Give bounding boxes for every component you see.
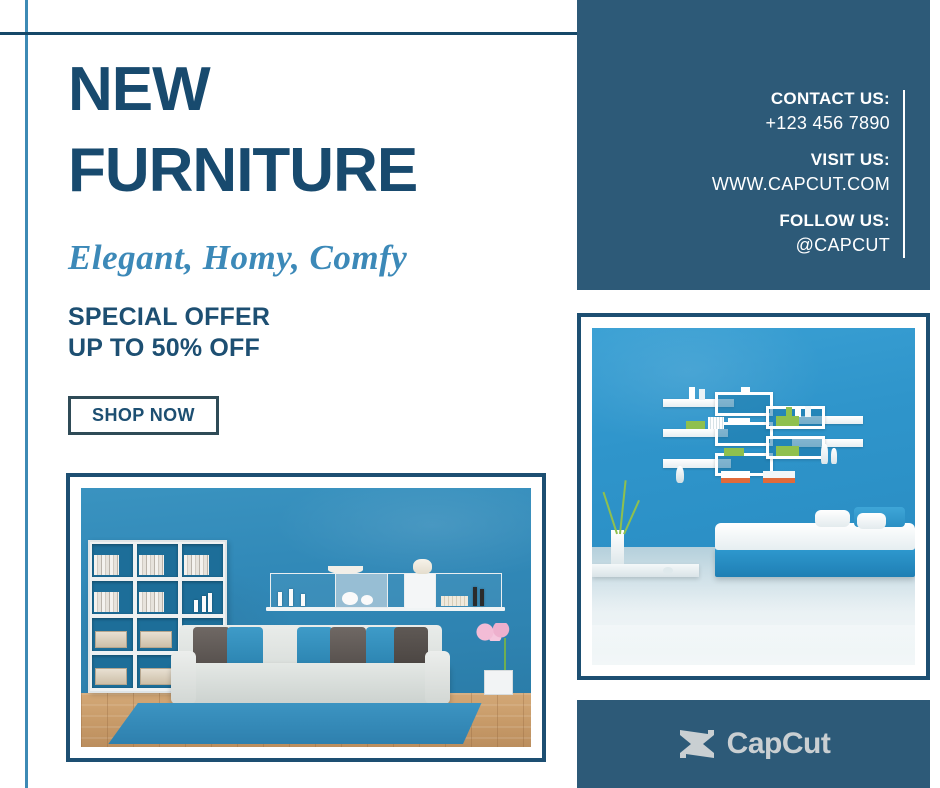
contact-group-phone: CONTACT US: +123 456 7890 <box>712 88 890 135</box>
bookshelf-cell <box>137 544 178 577</box>
contact-value-website[interactable]: WWW.CAPCUT.COM <box>712 172 890 196</box>
area-rug <box>108 703 482 744</box>
shelf-book-green-3 <box>776 416 799 426</box>
cushion-grey-1 <box>193 627 229 668</box>
bookshelf-books <box>94 592 119 612</box>
bookshelf-candle <box>202 596 206 612</box>
bookshelf-cell <box>92 618 133 651</box>
bed-base <box>715 547 915 577</box>
shelf-book-green-4 <box>724 448 743 456</box>
cushion-grey-3 <box>394 627 427 668</box>
bookshelf-cell <box>92 581 133 614</box>
cushion-blue-1 <box>227 627 263 668</box>
headline-line-two: FURNITURE <box>68 141 538 202</box>
headline-line-one: NEW <box>68 60 538 121</box>
sofa-arm-left <box>171 651 196 704</box>
candle-stick-e <box>301 594 305 606</box>
cushion-blue-2 <box>297 627 333 668</box>
contact-value-phone[interactable]: +123 456 7890 <box>712 111 890 135</box>
shelf-vase-2 <box>699 389 705 401</box>
special-offer-block: SPECIAL OFFER UP TO 50% OFF <box>68 302 270 364</box>
bed-pillow-white-2 <box>857 513 886 528</box>
shelf-books-white-2 <box>721 471 750 478</box>
bookshelf-basket <box>140 631 172 649</box>
vertical-accent-rule <box>25 0 28 788</box>
shelf-vase-1 <box>689 387 695 400</box>
bookshelf-candle <box>194 600 198 613</box>
shelf-books <box>441 596 469 606</box>
decor-white-box <box>404 574 436 608</box>
plant-pot <box>484 670 513 695</box>
shelf-vase-4 <box>805 406 811 418</box>
wall-shelf <box>270 573 502 609</box>
low-bench <box>592 564 699 577</box>
shelf-bowl-2 <box>728 418 751 425</box>
bedroom-photo-frame <box>577 313 930 680</box>
bed-mattress <box>715 523 915 550</box>
shop-now-button[interactable]: SHOP NOW <box>68 396 219 435</box>
bed-pillow-white <box>815 510 851 527</box>
bookshelf-books <box>184 555 209 575</box>
shelf-book-orange-2 <box>763 478 795 483</box>
candle-stick-a <box>473 587 477 607</box>
contact-value-social[interactable]: @CAPCUT <box>712 233 890 257</box>
bookshelf-cell <box>182 544 223 577</box>
contact-group-website: VISIT US: WWW.CAPCUT.COM <box>712 149 890 196</box>
poster-canvas: CONTACT US: +123 456 7890 VISIT US: WWW.… <box>0 0 940 788</box>
contact-label-phone: CONTACT US: <box>712 88 890 111</box>
floor-vase <box>611 530 624 564</box>
capcut-hourglass-icon <box>677 727 717 761</box>
floor-reflection <box>592 625 915 665</box>
shelf-books-white-1 <box>708 417 724 429</box>
decor-bowl <box>328 566 362 575</box>
contact-divider-line <box>903 90 905 258</box>
sofa <box>171 625 450 710</box>
shelf-vase-tall-2 <box>831 448 837 465</box>
decor-vase <box>413 559 431 574</box>
contact-info-block: CONTACT US: +123 456 7890 VISIT US: WWW.… <box>712 88 890 258</box>
orchid-flowers <box>473 623 514 641</box>
bookshelf-basket <box>95 631 127 649</box>
shelf-book-green-5 <box>776 446 799 456</box>
candle-stick-b <box>480 589 484 606</box>
capcut-logo: CapCut <box>577 700 930 788</box>
page-title: NEW FURNITURE <box>68 60 538 202</box>
sofa-seat <box>171 663 450 704</box>
offer-line-two: UP TO 50% OFF <box>68 333 270 364</box>
candle-stick-c <box>278 592 282 606</box>
bookshelf-cell <box>92 655 133 688</box>
shelf-vase-tall-1 <box>821 444 827 464</box>
bookshelf-cell <box>137 581 178 614</box>
shelf-bowl-1 <box>741 387 751 393</box>
shelf-book-orange-1 <box>721 478 750 483</box>
shelf-book-green-2 <box>686 421 705 429</box>
bookshelf-candle <box>208 593 212 612</box>
sofa-arm-right <box>425 651 450 704</box>
bookshelf-books <box>94 555 119 575</box>
living-room-photo-frame <box>66 473 546 762</box>
bookshelf-basket <box>95 668 127 686</box>
contact-group-social: FOLLOW US: @CAPCUT <box>712 210 890 257</box>
offer-line-one: SPECIAL OFFER <box>68 302 270 333</box>
subtitle: Elegant, Homy, Comfy <box>68 238 407 278</box>
cushion-grey-2 <box>330 627 366 668</box>
bookshelf-books <box>139 592 164 612</box>
bookshelf-basket <box>140 668 172 686</box>
capcut-logo-text: CapCut <box>727 727 831 761</box>
bookshelf-cell <box>92 544 133 577</box>
contact-label-social: FOLLOW US: <box>712 210 890 233</box>
shelf-books-white-3 <box>763 471 795 478</box>
shelf-lamp <box>676 466 684 483</box>
candle-stick-d <box>289 589 293 607</box>
bench-object <box>663 567 673 574</box>
bookshelf-cell <box>182 581 223 614</box>
living-room-photo <box>81 488 531 747</box>
bedroom-photo <box>592 328 915 665</box>
contact-label-website: VISIT US: <box>712 149 890 172</box>
wall-shelf-cube-1 <box>715 392 773 416</box>
bookshelf-books <box>139 555 164 575</box>
